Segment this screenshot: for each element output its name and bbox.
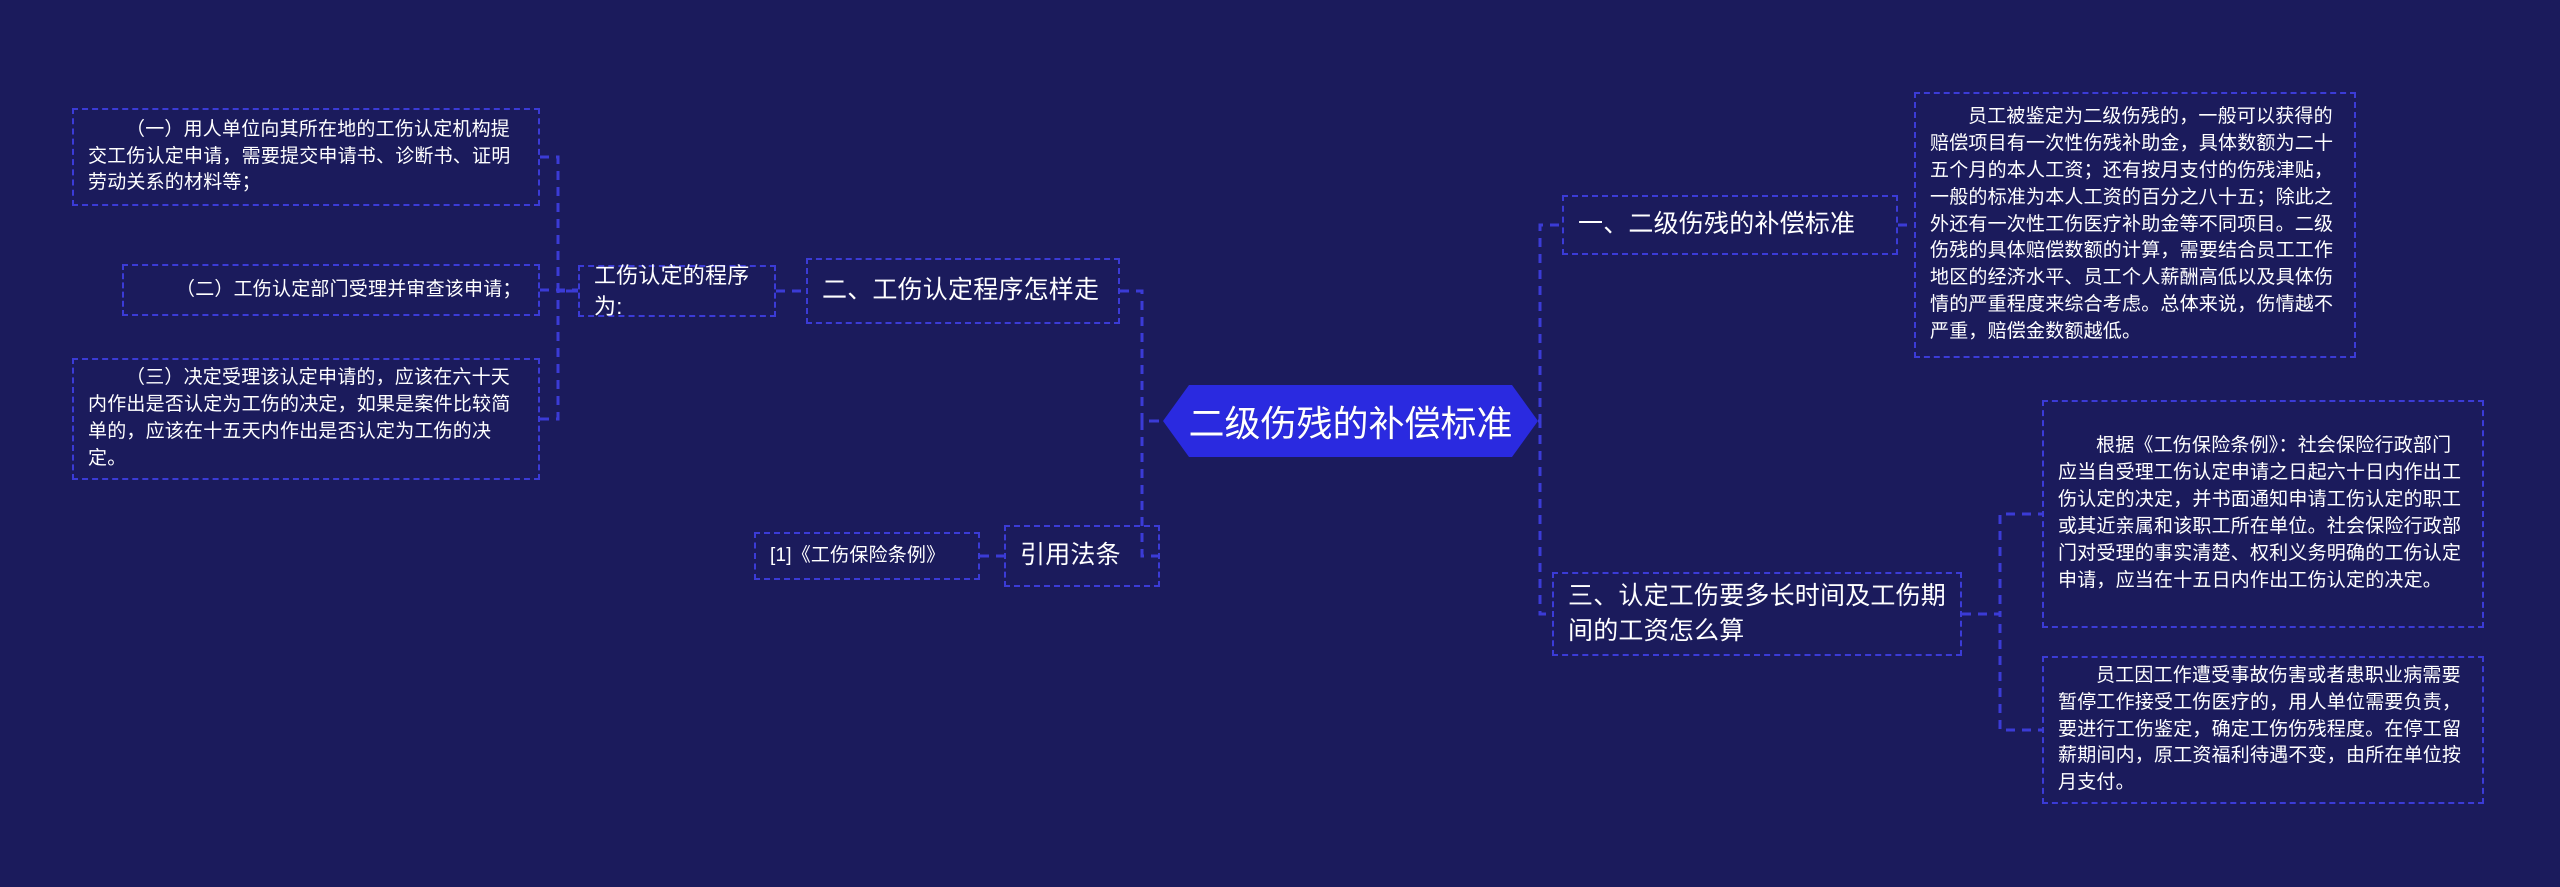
- node-procedure-hub[interactable]: 工伤认定的程序为:: [578, 265, 776, 317]
- node-topic-citation[interactable]: 引用法条: [1004, 525, 1160, 587]
- node-detail-duration-wage-text: 员工因工作遭受事故伤害或者患职业病需要暂停工作接受工伤医疗的，用人单位需要负责，…: [2058, 663, 2468, 798]
- node-left-item-1-label: （一）用人单位向其所在地的工伤认定机构提交工伤认定申请，需要提交申请书、诊断书、…: [88, 117, 524, 198]
- node-root[interactable]: 二级伤残的补偿标准: [1163, 385, 1538, 457]
- node-detail-duration-wage[interactable]: 员工因工作遭受事故伤害或者患职业病需要暂停工作接受工伤医疗的，用人单位需要负责，…: [2042, 656, 2484, 804]
- node-detail-regulation-text: 根据《工伤保险条例》：社会保险行政部门应当自受理工伤认定申请之日起六十日内作出工…: [2058, 433, 2468, 595]
- node-topic-compensation-label: 一、二级伤残的补偿标准: [1578, 207, 1882, 243]
- node-left-item-1[interactable]: （一）用人单位向其所在地的工伤认定机构提交工伤认定申请，需要提交申请书、诊断书、…: [72, 108, 540, 206]
- node-left-item-2-label: （二）工伤认定部门受理并审查该申请；: [138, 277, 524, 304]
- node-law-reference[interactable]: [1]《工伤保险条例》: [754, 532, 980, 580]
- link-step2-to-root: [1120, 291, 1163, 421]
- node-detail-compensation-text: 员工被鉴定为二级伤残的，一般可以获得的赔偿项目有一次性伤残补助金，具体数额为二十…: [1930, 104, 2340, 347]
- node-topic-compensation[interactable]: 一、二级伤残的补偿标准: [1562, 195, 1898, 255]
- link-left-item3: [540, 291, 578, 419]
- mindmap-canvas: （一）用人单位向其所在地的工伤认定机构提交工伤认定申请，需要提交申请书、诊断书、…: [0, 0, 2560, 887]
- node-left-item-3[interactable]: （三）决定受理该认定申请的，应该在六十天内作出是否认定为工伤的决定，如果是案件比…: [72, 358, 540, 480]
- node-left-item-3-label: （三）决定受理该认定申请的，应该在六十天内作出是否认定为工伤的决定，如果是案件比…: [88, 365, 524, 473]
- node-topic-citation-label: 引用法条: [1020, 538, 1144, 574]
- node-law-reference-label: [1]《工伤保险条例》: [770, 543, 964, 570]
- node-topic-step2-label: 二、工伤认定程序怎样走: [822, 273, 1104, 309]
- node-topic-step2[interactable]: 二、工伤认定程序怎样走: [806, 258, 1120, 324]
- link-root-to-topic3: [1538, 421, 1552, 614]
- node-procedure-hub-label: 工伤认定的程序为:: [594, 260, 760, 322]
- node-detail-compensation[interactable]: 员工被鉴定为二级伤残的，一般可以获得的赔偿项目有一次性伤残补助金，具体数额为二十…: [1914, 92, 2356, 358]
- link-topic3-to-middle-detail: [1962, 514, 2042, 614]
- link-left-item1: [540, 157, 578, 291]
- link-root-to-topic1: [1538, 225, 1562, 421]
- node-detail-regulation[interactable]: 根据《工伤保险条例》：社会保险行政部门应当自受理工伤认定申请之日起六十日内作出工…: [2042, 400, 2484, 628]
- node-root-label: 二级伤残的补偿标准: [1188, 395, 1512, 447]
- node-topic-duration-wage[interactable]: 三、认定工伤要多长时间及工伤期间的工资怎么算: [1552, 572, 1962, 656]
- node-left-item-2[interactable]: （二）工伤认定部门受理并审查该申请；: [122, 264, 540, 316]
- link-topic3-to-detail: [1962, 614, 2042, 730]
- node-topic-duration-wage-label: 三、认定工伤要多长时间及工伤期间的工资怎么算: [1568, 579, 1946, 650]
